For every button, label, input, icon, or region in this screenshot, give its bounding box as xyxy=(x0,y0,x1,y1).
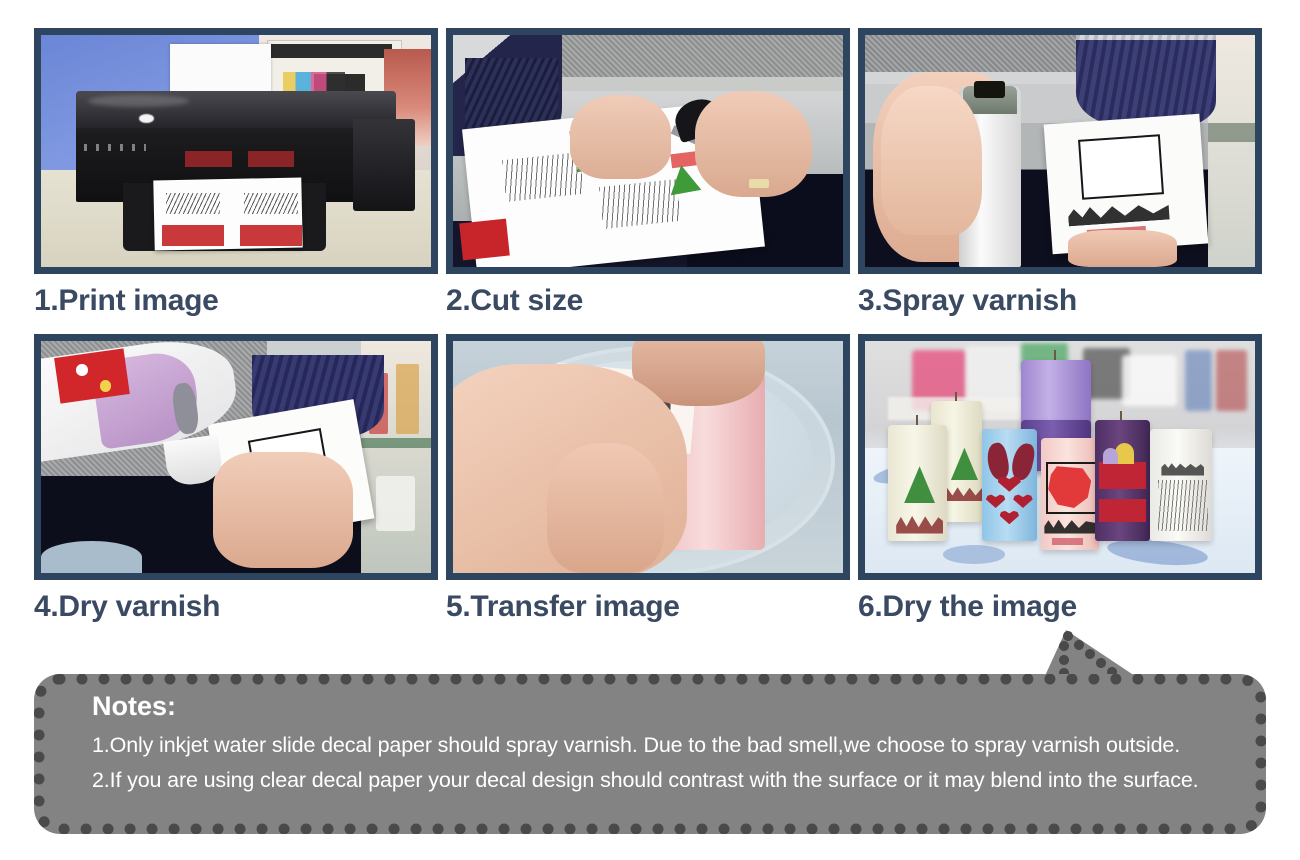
step-3-caption: 3.Spray varnish xyxy=(858,274,1268,334)
printer-side-module xyxy=(353,119,415,212)
photo-cut-size xyxy=(453,35,843,267)
step-5: 5.Transfer image xyxy=(446,334,856,640)
felt-edge xyxy=(547,77,843,91)
notes-content: Notes: 1.Only inkjet water slide decal p… xyxy=(92,690,1252,797)
background-item-red xyxy=(1216,350,1247,410)
notes-callout: Notes: 1.Only inkjet water slide decal p… xyxy=(34,630,1266,835)
blue-bowl xyxy=(41,541,142,573)
candle-rose-frame xyxy=(1046,462,1097,515)
candle-tower-bridge-sketch xyxy=(1158,480,1209,531)
infographic-page: 1.Print image xyxy=(0,0,1300,860)
holding-hand xyxy=(1068,230,1177,267)
sheet-sketch-2 xyxy=(599,180,681,230)
step-4: 4.Dry varnish xyxy=(34,334,444,640)
candle-happy-block xyxy=(1099,462,1146,490)
background-cup xyxy=(376,476,415,532)
photo-spray-varnish xyxy=(865,35,1255,267)
background-shelf xyxy=(361,438,431,447)
printed-rose-2 xyxy=(240,225,302,246)
thumb xyxy=(547,443,664,573)
photo-dry-varnish xyxy=(41,341,431,573)
steps-grid: 1.Print image xyxy=(34,28,1266,640)
step-2-caption: 2.Cut size xyxy=(446,274,856,334)
hair-dryer-red-panel xyxy=(54,348,130,404)
printer-gloss-highlight xyxy=(88,95,189,107)
notes-line-1: 1.Only inkjet water slide decal paper sh… xyxy=(92,728,1252,763)
spray-nozzle xyxy=(974,81,1005,97)
fingers-on-can xyxy=(881,86,982,234)
poster-title-bar xyxy=(271,44,392,58)
background-bottle-2 xyxy=(396,364,419,434)
felt-surface xyxy=(865,35,1107,77)
photo-print-image xyxy=(41,35,431,267)
step-5-photo-frame xyxy=(446,334,850,580)
background-item-blue xyxy=(1185,350,1212,410)
background-shelf xyxy=(1208,123,1255,142)
candle-life-block xyxy=(1099,499,1146,522)
candle-balloon-lilac xyxy=(1103,448,1119,464)
candle-day-party-text xyxy=(1052,538,1083,545)
dryer-dot-2 xyxy=(100,380,112,392)
step-6: 6.Dry the image xyxy=(858,334,1268,640)
printer-buttons xyxy=(84,144,146,151)
cloth-pattern-3 xyxy=(943,545,1005,564)
step-3-photo-frame xyxy=(858,28,1262,274)
left-hand xyxy=(570,95,671,179)
step-1: 1.Print image xyxy=(34,28,444,334)
holding-hand xyxy=(213,452,353,568)
step-4-photo-frame xyxy=(34,334,438,580)
notes-callout-tail-dots xyxy=(1042,630,1138,678)
step-1-caption: 1.Print image xyxy=(34,274,444,334)
card-rose-frame xyxy=(1078,134,1164,199)
finger-ring xyxy=(749,179,769,188)
dryer-dot-1 xyxy=(76,364,88,376)
notes-line-2: 2.If you are using clear decal paper you… xyxy=(92,763,1252,798)
step-3: 3.Spray varnish xyxy=(858,28,1268,334)
printed-rose-1 xyxy=(162,225,224,246)
step-2: 2.Cut size xyxy=(446,28,856,334)
inner-sheet-rose-1 xyxy=(185,151,232,167)
step-1-photo-frame xyxy=(34,28,438,274)
step-2-photo-frame xyxy=(446,28,850,274)
printed-sketch-1 xyxy=(166,193,221,214)
printed-sketch-2 xyxy=(244,193,299,214)
photo-dry-the-image xyxy=(865,341,1255,573)
sheet-rose-print xyxy=(459,218,509,260)
notes-title: Notes: xyxy=(92,690,1252,724)
background-mug-white-2 xyxy=(1122,355,1177,406)
inner-sheet-rose-2 xyxy=(248,151,295,167)
photo-transfer-image xyxy=(453,341,843,573)
step-6-photo-frame xyxy=(858,334,1262,580)
